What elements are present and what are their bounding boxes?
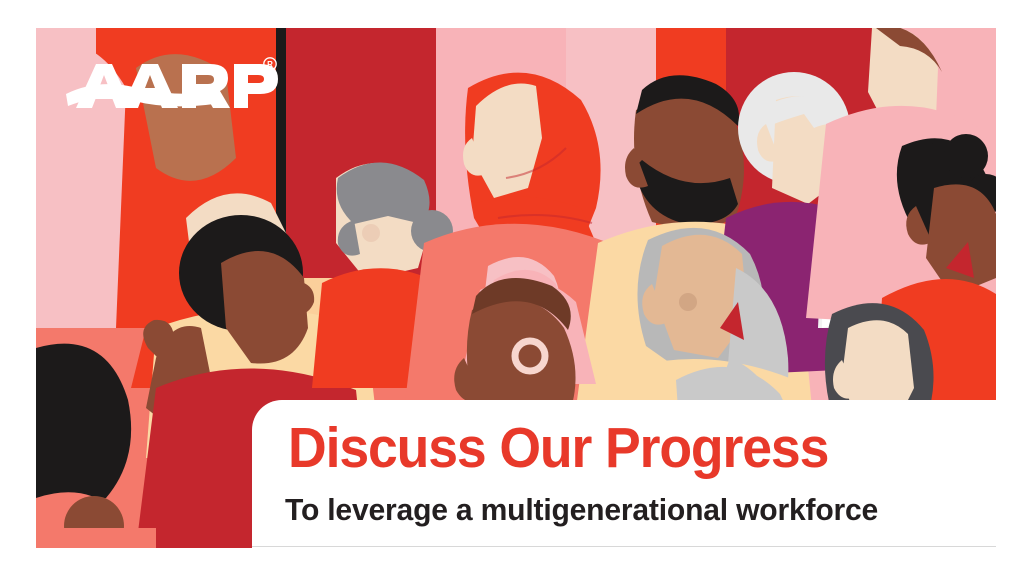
caption-panel: Discuss Our Progress To leverage a multi… — [252, 400, 996, 548]
caption-divider — [252, 546, 996, 547]
slide-canvas: R Discuss Our Progress To leverage a mul… — [0, 0, 1024, 585]
page-subtitle: To leverage a multigenerational workforc… — [285, 492, 878, 528]
page-title: Discuss Our Progress — [288, 418, 828, 478]
